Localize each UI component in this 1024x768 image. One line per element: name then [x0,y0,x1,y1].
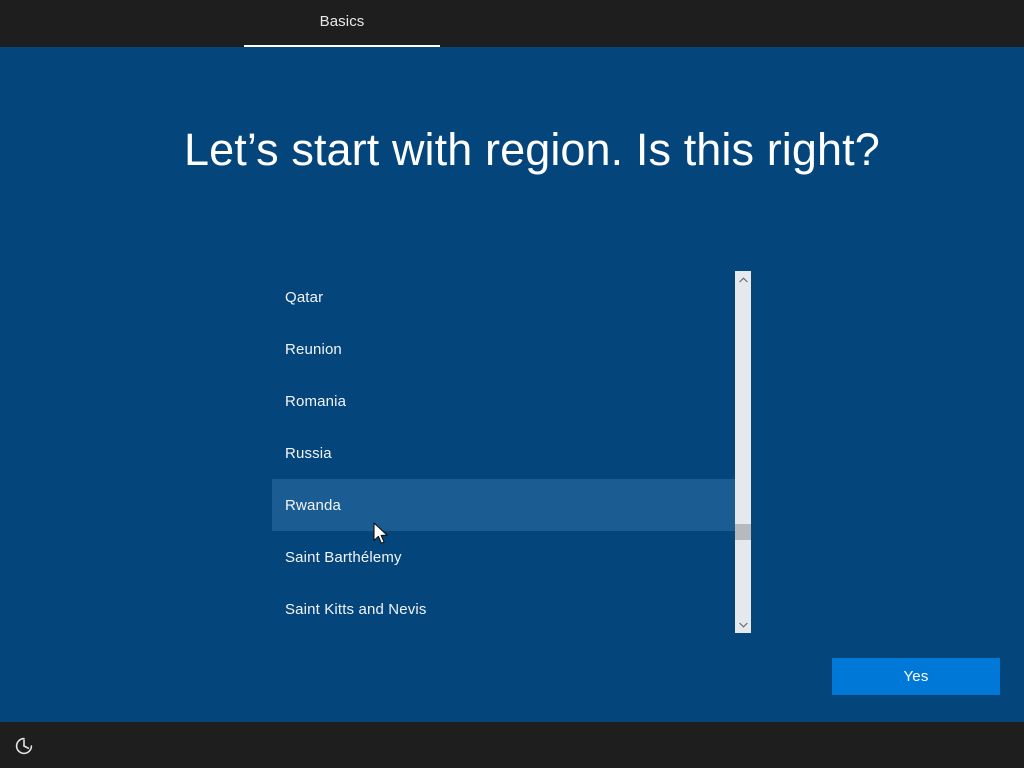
tab-basics-label: Basics [320,14,365,33]
list-item[interactable]: Saint Barthélemy [272,531,735,583]
list-item[interactable]: Saint Kitts and Nevis [272,583,735,633]
list-item-label: Qatar [285,289,323,306]
title-bar: Basics [0,0,1024,47]
scrollbar-thumb[interactable] [735,524,751,540]
region-list-viewport: Qatar Reunion Romania Russia Rwanda Sain… [272,271,735,633]
confirm-yes-button[interactable]: Yes [832,658,1000,695]
region-list-scrollbar[interactable] [735,271,751,633]
ease-of-access-icon [14,736,34,756]
list-item[interactable]: Romania [272,375,735,427]
ease-of-access-button[interactable] [10,732,38,760]
scroll-down-button[interactable] [735,616,751,633]
list-item-label: Russia [285,445,332,462]
tab-basics[interactable]: Basics [244,0,440,47]
list-item-selected[interactable]: Rwanda [272,479,735,531]
oobe-screen: Basics Let’s start with region. Is this … [0,0,1024,768]
chevron-down-icon [739,622,748,628]
status-bar [0,722,1024,768]
list-item-label: Reunion [285,341,342,358]
list-item-label: Rwanda [285,497,341,514]
page-title: Let’s start with region. Is this right? [184,124,880,176]
chevron-up-icon [739,277,748,283]
list-item-label: Romania [285,393,346,410]
list-item[interactable]: Russia [272,427,735,479]
main-content: Let’s start with region. Is this right? … [0,47,1024,722]
list-item[interactable]: Qatar [272,271,735,323]
scrollbar-track[interactable] [735,288,751,616]
scroll-up-button[interactable] [735,271,751,288]
list-item-label: Saint Kitts and Nevis [285,601,427,618]
list-item-label: Saint Barthélemy [285,549,402,566]
list-item[interactable]: Reunion [272,323,735,375]
confirm-yes-label: Yes [903,668,928,685]
region-list[interactable]: Qatar Reunion Romania Russia Rwanda Sain… [272,271,751,633]
